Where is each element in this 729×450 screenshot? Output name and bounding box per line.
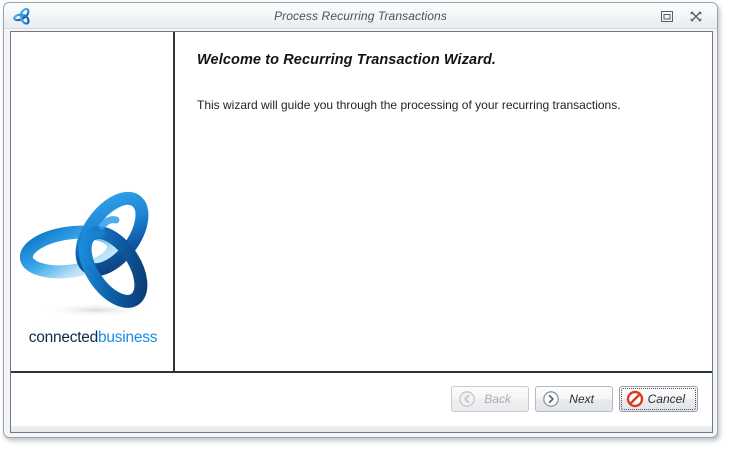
- wizard-window: Process Recurring Transactions: [3, 2, 718, 438]
- wizard-footer: Back Next: [11, 375, 712, 432]
- brand-wordmark: connectedbusiness: [17, 329, 169, 347]
- wizard-upper-section: connectedbusiness Welcome to Recurring T…: [11, 32, 712, 373]
- wizard-button-row: Back Next: [451, 386, 698, 412]
- brand-word-business: business: [98, 329, 157, 346]
- cancel-button-label: Cancel: [648, 392, 691, 406]
- next-button[interactable]: Next: [535, 386, 613, 412]
- connected-business-logo-icon: [13, 7, 32, 26]
- dialog-client-area: connectedbusiness Welcome to Recurring T…: [10, 31, 713, 433]
- chevron-left-circle-icon: [458, 390, 476, 408]
- page-title: Welcome to Recurring Transaction Wizard.: [197, 52, 496, 68]
- restore-window-icon[interactable]: [659, 9, 675, 24]
- wizard-content-panel: Welcome to Recurring Transaction Wizard.…: [177, 32, 712, 371]
- brand-word-connected: connected: [29, 329, 98, 346]
- prohibition-sign-icon: [626, 390, 644, 408]
- back-button-label: Back: [480, 392, 522, 406]
- window-title: Process Recurring Transactions: [4, 3, 717, 29]
- window-bottom-strip: [11, 426, 712, 432]
- close-window-icon[interactable]: [688, 9, 704, 24]
- chevron-right-circle-icon: [542, 390, 560, 408]
- connected-business-trefoil-rings-logo: [17, 190, 169, 327]
- branding-panel: connectedbusiness: [11, 32, 175, 371]
- next-button-label: Next: [564, 392, 606, 406]
- cancel-button[interactable]: Cancel: [619, 386, 698, 412]
- brand-logo: connectedbusiness: [17, 190, 169, 347]
- page-description: This wizard will guide you through the p…: [197, 97, 696, 113]
- title-bar: Process Recurring Transactions: [4, 3, 717, 29]
- back-button: Back: [451, 386, 529, 412]
